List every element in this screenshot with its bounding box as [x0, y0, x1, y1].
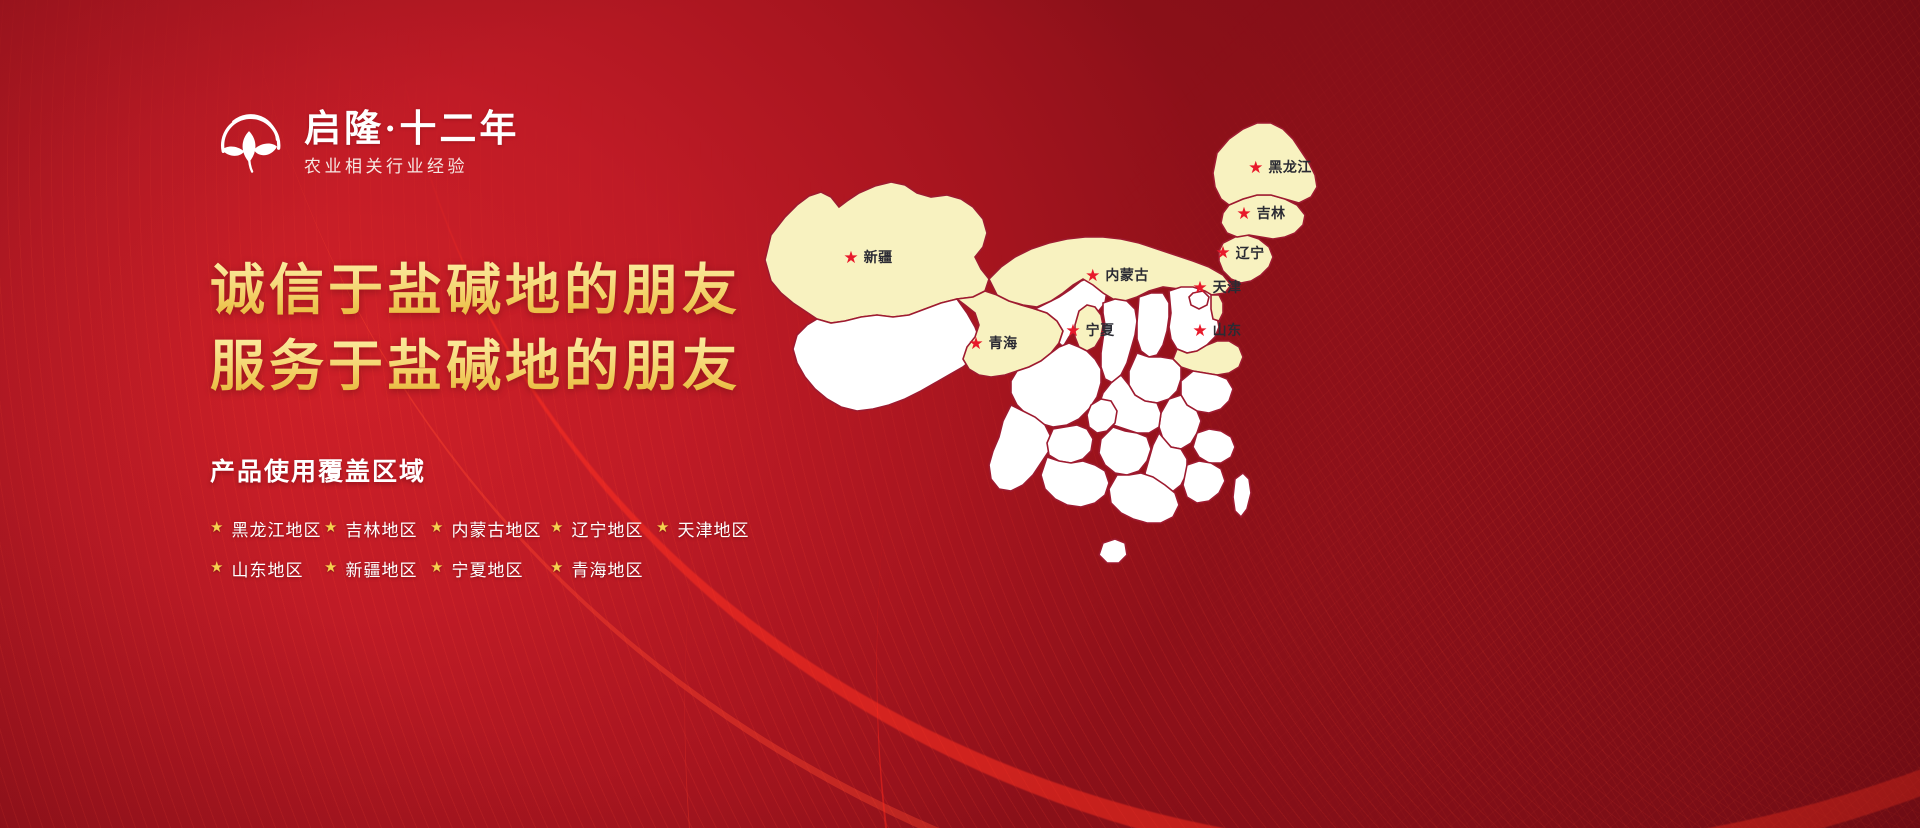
- coverage-region-label: 青海地区: [571, 556, 643, 581]
- headline-block: 诚信于盐碱地的朋友 服务于盐碱地的朋友: [210, 253, 741, 405]
- headline-line-2: 服务于盐碱地的朋友: [210, 329, 741, 405]
- coverage-title: 产品使用覆盖区域: [210, 452, 749, 488]
- map-marker-3[interactable]: ★内蒙古: [1085, 265, 1149, 285]
- star-icon: ★: [324, 561, 337, 576]
- province-fujian: [1183, 461, 1225, 503]
- coverage-region-item[interactable]: ★宁夏地区: [430, 556, 550, 581]
- map-marker-0[interactable]: ★黑龙江: [1248, 157, 1312, 177]
- star-icon: ★: [1085, 267, 1100, 284]
- map-marker-4[interactable]: ★天津: [1192, 277, 1241, 297]
- brand-text-block: 启隆·十二年 农业相关行业经验: [304, 107, 519, 178]
- province-zhejiang: [1193, 429, 1235, 463]
- province-guangxi: [1041, 457, 1109, 507]
- map-marker-6[interactable]: ★宁夏: [1065, 320, 1114, 340]
- coverage-region-item[interactable]: ★新疆地区: [324, 556, 430, 581]
- province-taiwan: [1233, 473, 1251, 517]
- coverage-region-item[interactable]: ★辽宁地区: [550, 516, 656, 541]
- star-icon: ★: [968, 335, 983, 352]
- headline-line-1: 诚信于盐碱地的朋友: [210, 253, 741, 329]
- coverage-region-list: ★黑龙江地区★吉林地区★内蒙古地区★辽宁地区★天津地区★山东地区★新疆地区★宁夏…: [210, 516, 749, 581]
- brand-subtitle: 农业相关行业经验: [304, 157, 519, 177]
- star-icon: ★: [550, 521, 563, 536]
- map-marker-label: 宁夏: [1086, 320, 1115, 340]
- map-marker-7[interactable]: ★新疆: [843, 247, 892, 267]
- coverage-region-item[interactable]: ★吉林地区: [324, 516, 430, 541]
- brand-logo-lockup: 启隆·十二年 农业相关行业经验: [210, 103, 519, 181]
- province-guizhou: [1047, 425, 1093, 463]
- map-marker-label: 辽宁: [1236, 243, 1265, 263]
- coverage-region-label: 黑龙江地区: [231, 516, 321, 541]
- china-map-svg: [735, 65, 1375, 610]
- star-icon: ★: [1065, 322, 1080, 339]
- coverage-region-label: 宁夏地区: [451, 556, 523, 581]
- coverage-region-label: 内蒙古地区: [451, 516, 541, 541]
- map-marker-2[interactable]: ★辽宁: [1215, 243, 1264, 263]
- star-icon: ★: [843, 249, 858, 266]
- promo-banner: 启隆·十二年 农业相关行业经验 诚信于盐碱地的朋友 服务于盐碱地的朋友 产品使用…: [0, 0, 1920, 828]
- map-marker-label: 内蒙古: [1105, 265, 1149, 285]
- star-icon: ★: [430, 561, 443, 576]
- star-icon: ★: [1248, 159, 1263, 176]
- map-marker-label: 天津: [1213, 277, 1242, 297]
- coverage-region-label: 山东地区: [231, 556, 303, 581]
- coverage-region-label: 吉林地区: [345, 516, 417, 541]
- star-icon: ★: [550, 561, 563, 576]
- brand-title: 启隆·十二年: [304, 109, 519, 150]
- province-hainan: [1099, 539, 1127, 563]
- star-icon: ★: [324, 521, 337, 536]
- star-icon: ★: [210, 521, 223, 536]
- map-marker-label: 青海: [989, 333, 1018, 353]
- lotus-leaf-circle-icon: [210, 103, 288, 181]
- coverage-region-item[interactable]: ★黑龙江地区: [210, 516, 324, 541]
- star-icon: ★: [1236, 205, 1251, 222]
- map-provinces: [765, 123, 1317, 563]
- province-tianjin: [1211, 295, 1223, 321]
- star-icon: ★: [1192, 279, 1207, 296]
- star-icon: ★: [210, 561, 223, 576]
- star-icon: ★: [1192, 322, 1207, 339]
- map-marker-1[interactable]: ★吉林: [1236, 203, 1285, 223]
- coverage-region-label: 辽宁地区: [571, 516, 643, 541]
- star-icon: ★: [1215, 244, 1230, 261]
- map-marker-8[interactable]: ★青海: [968, 333, 1017, 353]
- coverage-region-item[interactable]: ★山东地区: [210, 556, 324, 581]
- star-icon: ★: [656, 521, 669, 536]
- province-shanxi: [1137, 293, 1169, 357]
- star-icon: ★: [430, 521, 443, 536]
- province-hunan: [1099, 427, 1151, 475]
- coverage-block: 产品使用覆盖区域 ★黑龙江地区★吉林地区★内蒙古地区★辽宁地区★天津地区★山东地…: [210, 452, 749, 581]
- map-marker-label: 吉林: [1257, 203, 1286, 223]
- china-coverage-map: ★黑龙江★吉林★辽宁★内蒙古★天津★山东★宁夏★新疆★青海: [735, 65, 1375, 610]
- map-marker-label: 山东: [1213, 320, 1242, 340]
- map-marker-5[interactable]: ★山东: [1192, 320, 1241, 340]
- map-marker-label: 新疆: [864, 247, 893, 267]
- map-marker-label: 黑龙江: [1268, 157, 1312, 177]
- coverage-region-item[interactable]: ★内蒙古地区: [430, 516, 550, 541]
- coverage-region-label: 新疆地区: [345, 556, 417, 581]
- coverage-region-item[interactable]: ★青海地区: [550, 556, 656, 581]
